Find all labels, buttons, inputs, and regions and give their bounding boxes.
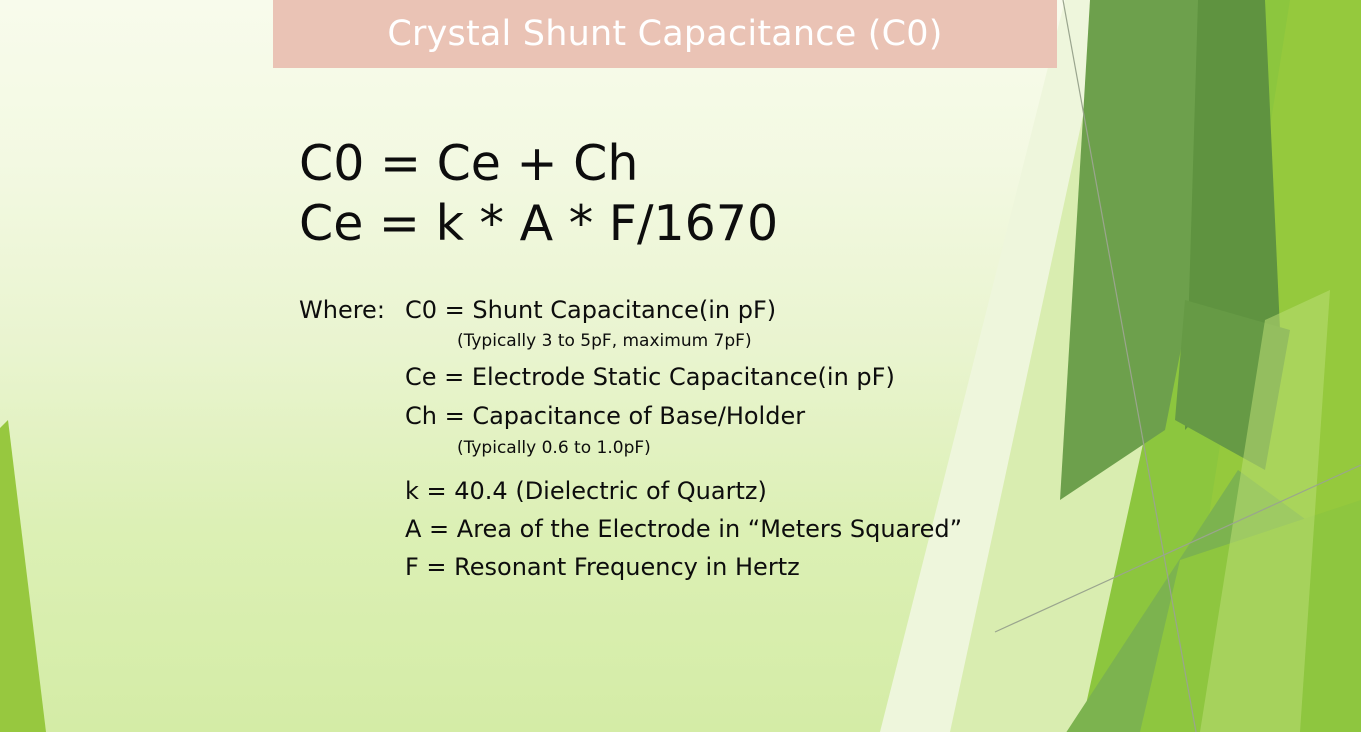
definition-item-a: A = Area of the Electrode in “Meters Squ…: [405, 517, 962, 541]
definition-item-ce: Ce = Electrode Static Capacitance(in pF): [405, 365, 895, 389]
definition-note-c0: (Typically 3 to 5pF, maximum 7pF): [457, 333, 752, 350]
slide-body: C0 = Ce + Ch Ce = k * A * F/1670 Where: …: [0, 0, 1361, 732]
definition-note-ch: (Typically 0.6 to 1.0pF): [457, 440, 651, 457]
definition-item-f: F = Resonant Frequency in Hertz: [405, 555, 800, 579]
definition-item-ch: Ch = Capacitance of Base/Holder: [405, 404, 805, 428]
formula-line-2: Ce = k * A * F/1670: [299, 199, 778, 248]
definition-item-k: k = 40.4 (Dielectric of Quartz): [405, 479, 767, 503]
definition-item-c0: C0 = Shunt Capacitance(in pF): [405, 298, 776, 322]
slide-canvas: Crystal Shunt Capacitance (C0) C0 = Ce +…: [0, 0, 1361, 732]
formula-line-1: C0 = Ce + Ch: [299, 139, 638, 188]
